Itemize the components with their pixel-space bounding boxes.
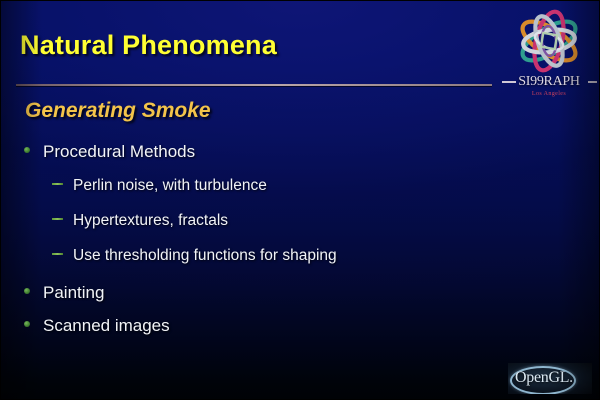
bullet-dash-icon [52, 183, 63, 185]
siggraph-rings-icon [506, 8, 592, 74]
bullet-dash-icon [52, 218, 63, 220]
presentation-slide: Natural Phenomena Generating Smoke Proce… [0, 0, 600, 400]
bullet-item: Perlin noise, with turbulence [52, 177, 267, 195]
siggraph-tagline: Los Angeles [500, 91, 598, 97]
bullet-dot-icon [24, 321, 30, 327]
siggraph-wordmark: SI99RAPH [500, 74, 598, 90]
bullet-dot-icon [24, 288, 30, 294]
opengl-logo: OpenGL. [508, 363, 592, 394]
bullet-item: Scanned images [24, 316, 170, 336]
slide-title: Natural Phenomena [20, 30, 277, 61]
bullet-text: Scanned images [43, 316, 170, 336]
title-divider-rule [16, 84, 492, 86]
bullet-text: Perlin noise, with turbulence [73, 177, 267, 195]
slide-subtitle: Generating Smoke [25, 99, 211, 123]
bullet-text: Painting [43, 283, 104, 303]
siggraph-logo: SI99RAPH Los Angeles [500, 8, 598, 104]
bullet-item: Painting [24, 283, 104, 303]
bullet-text: Use thresholding functions for shaping [73, 247, 337, 265]
bullet-item: Procedural Methods [24, 142, 195, 162]
bullet-text: Procedural Methods [43, 142, 195, 162]
opengl-wordmark: OpenGL. [515, 369, 573, 387]
bullet-dot-icon [24, 147, 30, 153]
bullet-item: Use thresholding functions for shaping [52, 247, 337, 265]
bullet-item: Hypertextures, fractals [52, 212, 228, 230]
bullet-text: Hypertextures, fractals [73, 212, 228, 230]
bullet-dash-icon [52, 253, 63, 255]
